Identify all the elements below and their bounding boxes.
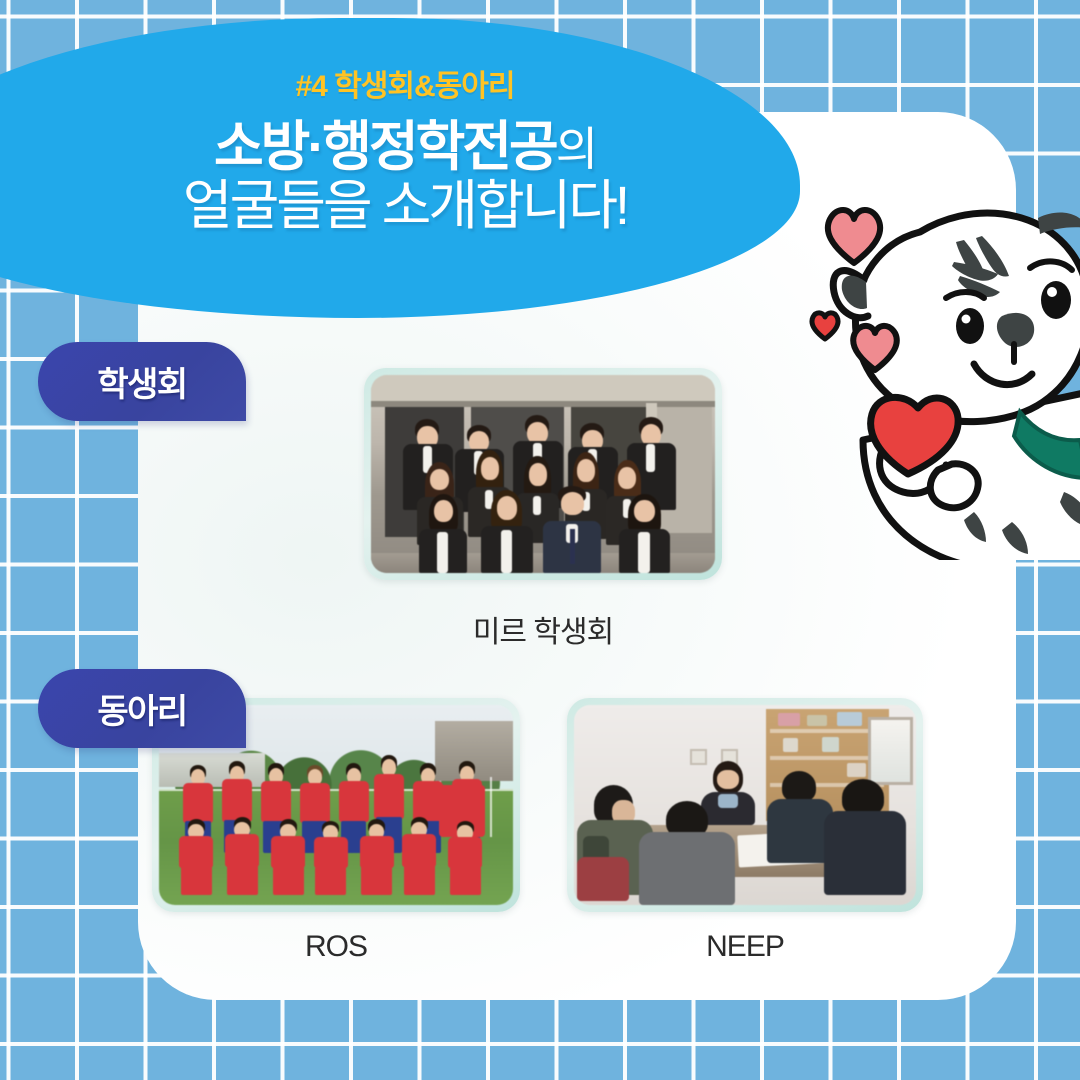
player [357,819,396,895]
player [311,821,350,895]
player [223,817,262,895]
page-title-line1: 소방·행정학전공의 [10,119,800,176]
photo-content [371,375,715,573]
player [269,819,308,895]
page-title-suffix: 의 [556,123,596,175]
white-tiger-mascot [768,140,1080,560]
person [543,486,601,573]
person [619,494,671,573]
photo-caption: NEEP [567,930,923,964]
heart-icon-medium [848,322,902,374]
person [639,801,735,905]
photo-caption: ROS [152,930,520,964]
eye-right [1041,281,1071,319]
section-badge-student-council: 학생회 [38,342,246,421]
player [446,821,485,895]
heart-icon-large [822,205,886,267]
person [481,490,533,573]
photo-caption: 미르 학생회 [364,607,722,651]
chair [577,857,628,901]
eye-left [956,308,984,344]
page-title-line2: 얼굴들을 소개합니다! [10,176,800,236]
person [824,779,906,895]
page-title-emphasis: 소방·행정학전공 [214,117,556,177]
section-badge-club: 동아리 [38,669,246,748]
eyebrow-label: #4 학생회&동아리 [10,18,800,105]
section-badge-label: 동아리 [97,684,186,733]
player [177,819,216,895]
player [400,817,439,895]
goal-post [490,777,492,837]
headline-wrap: #4 학생회&동아리 소방·행정학전공의 얼굴들을 소개합니다! [0,18,800,318]
heart-icon-small [808,310,842,342]
door-header [371,375,715,403]
window [868,717,912,785]
photo-content [574,705,916,905]
person [419,494,467,573]
photo-study-club [567,698,923,912]
photo-student-council [364,368,722,580]
section-badge-label: 학생회 [97,357,186,406]
